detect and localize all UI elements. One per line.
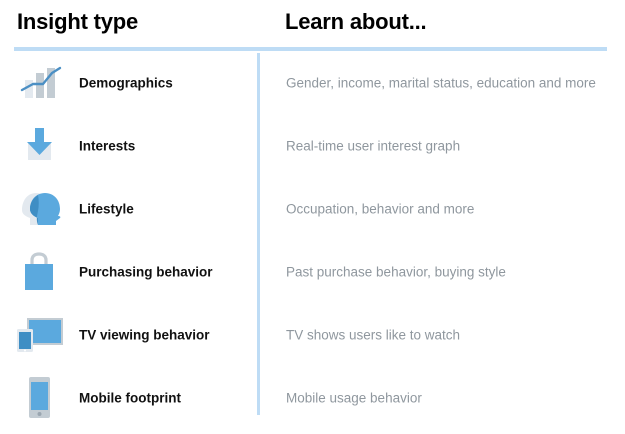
column-header-learn-about: Learn about... xyxy=(285,9,426,35)
row-label: Purchasing behavior xyxy=(79,264,213,279)
row-description: Gender, income, marital status, educatio… xyxy=(286,75,596,90)
row-description: Real-time user interest graph xyxy=(286,138,460,153)
smartphone-icon xyxy=(14,373,70,423)
row-label: Demographics xyxy=(79,75,173,90)
row-description: Mobile usage behavior xyxy=(286,390,422,405)
table-row[interactable]: Interests Real-time user interest graph xyxy=(0,114,625,177)
row-description: Past purchase behavior, buying style xyxy=(286,264,506,279)
table-row[interactable]: TV viewing behavior TV shows users like … xyxy=(0,303,625,366)
row-description: TV shows users like to watch xyxy=(286,327,460,342)
table-row[interactable]: Lifestyle Occupation, behavior and more xyxy=(0,177,625,240)
row-label: Interests xyxy=(79,138,135,153)
shopping-bag-icon xyxy=(14,247,70,297)
row-description: Occupation, behavior and more xyxy=(286,201,474,216)
download-arrow-icon xyxy=(14,121,70,171)
row-label: Lifestyle xyxy=(79,201,134,216)
bar-chart-trend-icon xyxy=(14,58,70,108)
table-row[interactable]: Demographics Gender, income, marital sta… xyxy=(0,51,625,114)
table-row[interactable]: Purchasing behavior Past purchase behavi… xyxy=(0,240,625,303)
row-label: Mobile footprint xyxy=(79,390,181,405)
insight-type-list: Demographics Gender, income, marital sta… xyxy=(0,51,625,429)
row-label: TV viewing behavior xyxy=(79,327,210,342)
head-profiles-icon xyxy=(14,184,70,234)
column-header-insight-type: Insight type xyxy=(17,9,138,35)
table-row[interactable]: Mobile footprint Mobile usage behavior xyxy=(0,366,625,429)
tv-and-tablet-icon xyxy=(14,310,70,360)
table-header: Insight type Learn about... xyxy=(0,0,625,46)
